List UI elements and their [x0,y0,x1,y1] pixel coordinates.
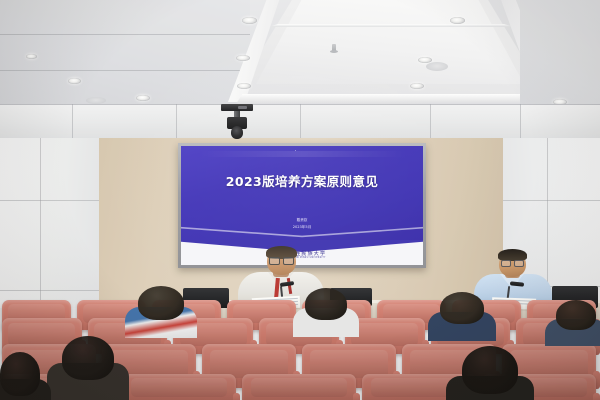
audience-long-hair-right [462,346,518,394]
audience-striped-polo [138,286,184,320]
slide-title: 2023版培养方案原则意见 [181,171,423,190]
audience-center-right [440,292,484,324]
camera-indicator [238,106,247,109]
seat[interactable] [122,374,236,400]
downlight-8 [410,83,424,89]
seat-armrest [233,393,240,400]
seat-armrest [593,393,600,400]
downlight-3 [26,54,37,59]
presenter-left-glasses [269,257,294,263]
slide-date: 2023年5月 [181,224,423,230]
audience-far-right-hair [556,300,596,330]
upper-wall-panels [0,104,600,140]
ceiling-vent-1 [426,62,448,71]
projection-screen[interactable]: 2023版培养方案原则意见 戴贵钦 2023年5月 大连民族大学 DALIAN … [181,146,423,265]
ceiling-right-plane [520,0,600,110]
ceiling-left-plane [0,0,250,108]
presenter-right-glasses [501,260,524,265]
ceiling-coffer-inner [256,0,524,84]
audience-edge-left [0,352,40,396]
ceiling-coffer-step [268,24,514,27]
downlight-5 [237,83,251,89]
ceiling-vent-2 [86,97,106,104]
downlight-4 [236,55,250,61]
audience-center-right-hair [440,292,484,324]
downlight-2 [136,95,150,101]
seat[interactable] [242,374,356,400]
wall-panels-left [0,138,99,308]
audience-bob-hair-hair [305,288,347,320]
ceiling [0,0,600,108]
audience-bob-hair [305,288,347,320]
conference-room-photo: 2023版培养方案原则意见 戴贵钦 2023年5月 大连民族大学 DALIAN … [0,0,600,400]
camera-mount-plate [221,104,253,111]
audience-striped-polo-hair [138,286,184,320]
downlight-1 [68,78,81,84]
audience-far-right [556,300,596,330]
audience-edge-left-hair [0,352,40,396]
ptz-camera-icon [221,104,253,142]
camera-lens [231,126,243,139]
downlight-6 [242,17,257,24]
audience-long-hair-left [62,336,114,380]
sprinkler-head [332,44,336,52]
ceiling-coffer-soffit [236,94,546,104]
seat-armrest [353,393,360,400]
slide-subtitle-block: 戴贵钦 2023年5月 [181,217,423,230]
audience-long-hair-left-hair [62,336,114,380]
downlight-9 [450,17,465,24]
audience-long-hair-right-hair [462,346,518,394]
screen-glare [200,151,403,157]
